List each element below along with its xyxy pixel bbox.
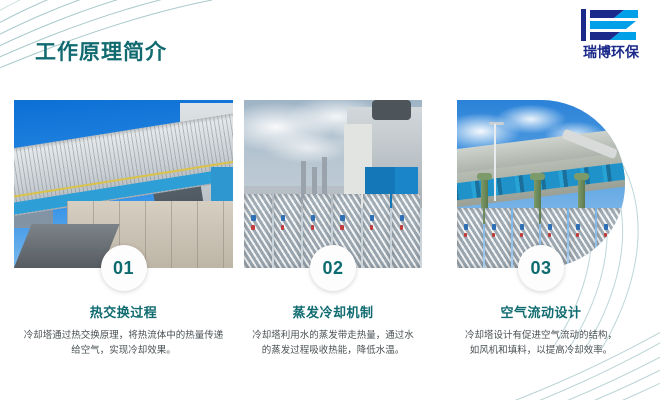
cards-row: 01 热交换过程 冷却塔通过热交换原理，将热流体中的热量传递给空气，实现冷却效果… [0,100,660,400]
logo-mark-icon [580,8,642,42]
card-01-heading: 热交换过程 [14,302,233,321]
card-02[interactable]: 02 蒸发冷却机制 冷却塔利用水的蒸发带走热量，通过水的蒸发过程吸收热能，降低水… [244,100,422,358]
card-01[interactable]: 01 热交换过程 冷却塔通过热交换原理，将热流体中的热量传递给空气，实现冷却效果… [14,100,233,358]
card-01-number-badge: 01 [101,245,147,291]
slide-root: 工作原理简介 瑞博环保 [0,0,660,400]
card-03-body: 冷却塔设计有促进空气流动的结构，如风机和填料，以提高冷却效率。 [457,328,625,358]
card-03-heading: 空气流动设计 [457,302,625,321]
card-01-body: 冷却塔通过热交换原理，将热流体中的热量传递给空气，实现冷却效果。 [14,328,233,358]
logo: 瑞博环保 [574,8,648,70]
card-03-photo [457,100,625,268]
card-03-number-badge: 03 [518,245,564,291]
card-02-body: 冷却塔利用水的蒸发带走热量，通过水的蒸发过程吸收热能，降低水温。 [244,328,422,358]
card-02-number-badge: 02 [310,245,356,291]
card-03[interactable]: 03 空气流动设计 冷却塔设计有促进空气流动的结构，如风机和填料，以提高冷却效率… [457,100,625,358]
card-01-photo [14,100,233,268]
page-title: 工作原理简介 [35,36,167,66]
card-02-heading: 蒸发冷却机制 [244,302,422,321]
card-02-photo [244,100,422,268]
logo-text: 瑞博环保 [574,44,648,60]
